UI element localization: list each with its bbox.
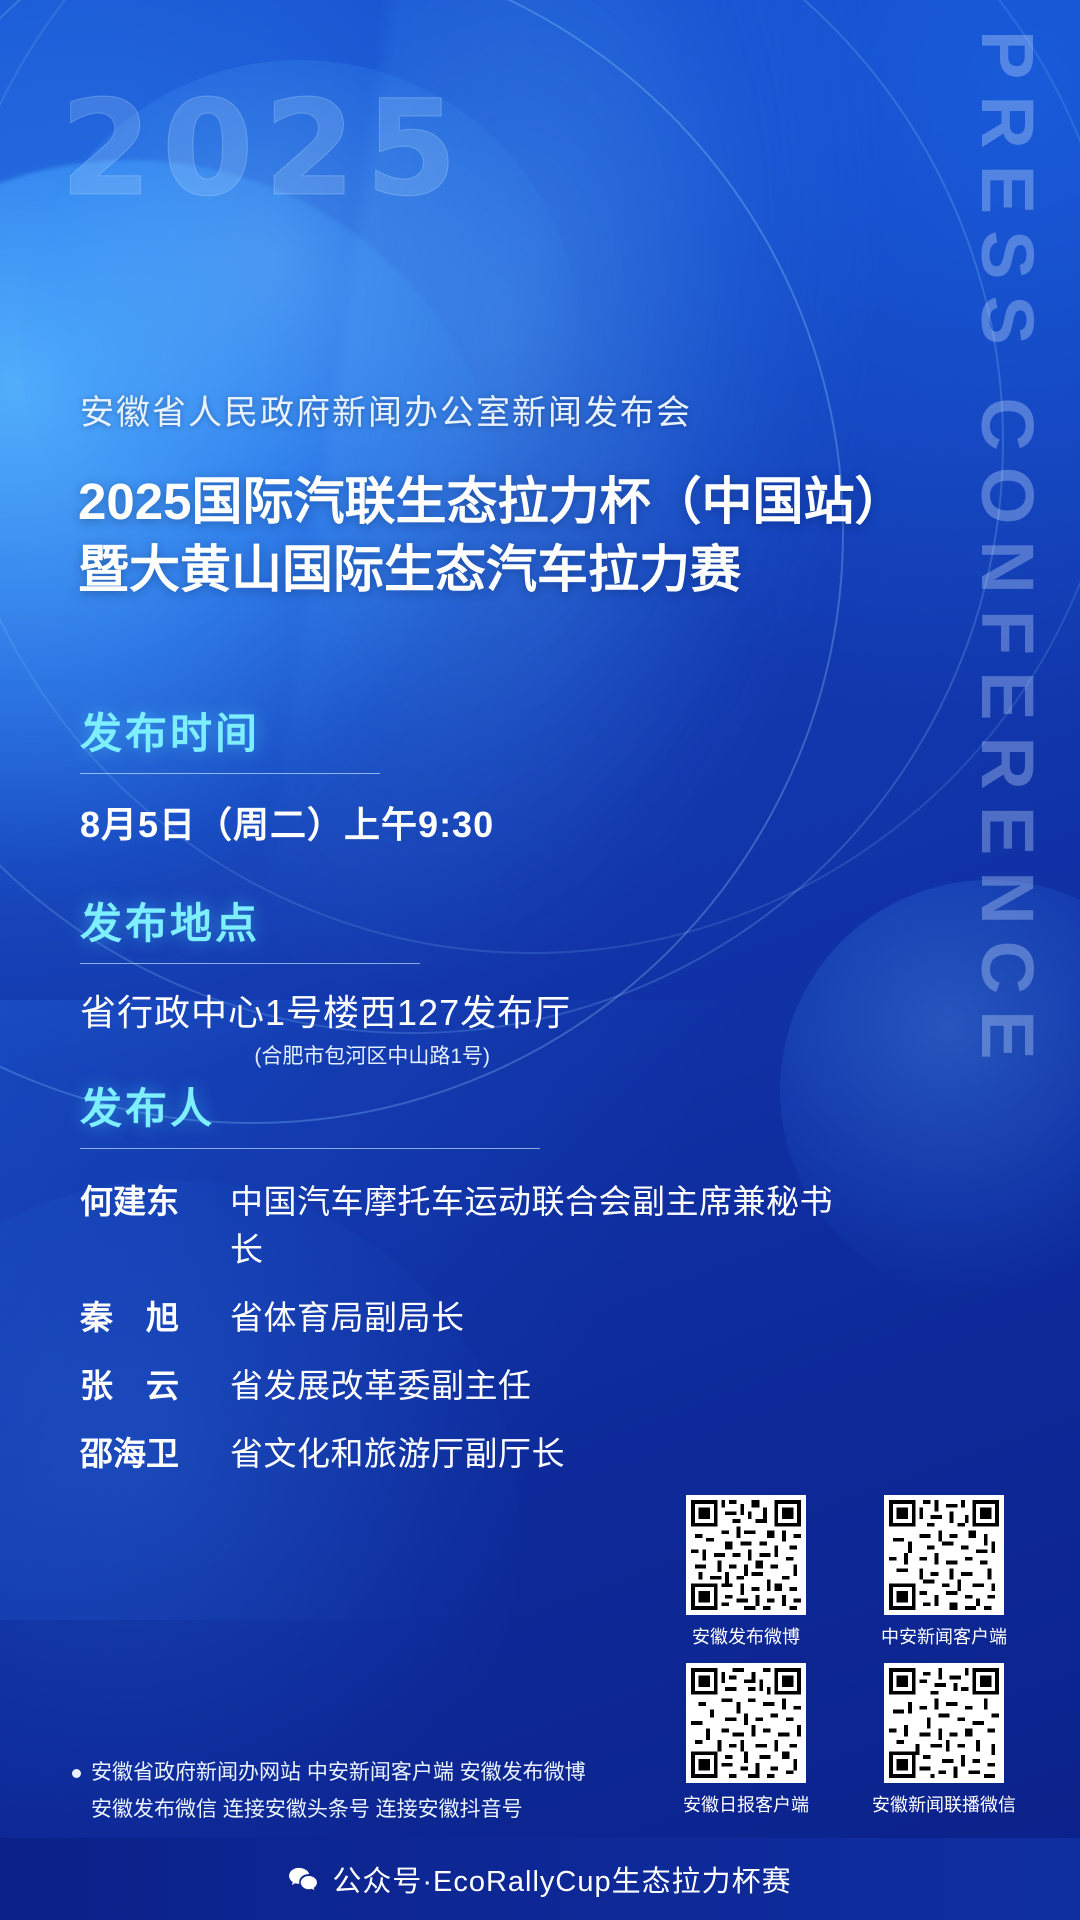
section-time-label: 发布时间 <box>80 700 680 761</box>
section-venue: 发布地点 省行政中心1号楼西127发布厅 (合肥市包河区中山路1号) <box>80 890 680 1070</box>
press-conference-poster: 2025 PRESS CONFERENCE 安徽省人民政府新闻办公室新闻发布会 … <box>0 0 1080 1920</box>
speaker-title: 省发展改革委副主任 <box>230 1359 532 1407</box>
speaker-title: 省文化和旅游厅副厅长 <box>230 1427 565 1475</box>
speaker-name: 何建东 <box>80 1175 230 1223</box>
qr-cell-weibo[interactable]: 安徽发布微博 <box>660 1495 832 1649</box>
qr-code-icon[interactable] <box>686 1663 806 1783</box>
footer-line-1: 安徽省政府新闻办网站 中安新闻客户端 安徽发布微博 <box>72 1755 632 1792</box>
poster-content: 安徽省人民政府新闻办公室新闻发布会 2025国际汽联生态拉力杯（中国站） 暨大黄… <box>0 0 1080 1920</box>
organizer-kicker: 安徽省人民政府新闻办公室新闻发布会 <box>80 385 692 434</box>
section-venue-label: 发布地点 <box>80 890 680 951</box>
footer-channels: 安徽省政府新闻办网站 中安新闻客户端 安徽发布微博 安徽发布微信 连接安徽头条号… <box>72 1755 632 1829</box>
qr-cell-zhongan-app[interactable]: 中安新闻客户端 <box>858 1495 1030 1649</box>
speaker-row: 邵海卫 省文化和旅游厅副厅长 <box>80 1427 840 1475</box>
section-speakers: 发布人 何建东 中国汽车摩托车运动联合会副主席兼秘书长 秦 旭 省体育局副局长 … <box>80 1075 840 1495</box>
qr-cell-ahxwlb-wechat[interactable]: 安徽新闻联播微信 <box>858 1663 1030 1817</box>
title-line-2: 暨大黄山国际生态汽车拉力赛 <box>78 536 1008 604</box>
qr-caption: 安徽发布微博 <box>692 1623 800 1649</box>
qr-caption: 中安新闻客户端 <box>881 1623 1007 1649</box>
speaker-name: 秦 旭 <box>80 1291 230 1339</box>
qr-code-icon[interactable] <box>686 1495 806 1615</box>
speaker-title: 省体育局副局长 <box>230 1291 465 1339</box>
speaker-row: 秦 旭 省体育局副局长 <box>80 1291 840 1339</box>
qr-caption: 安徽新闻联播微信 <box>872 1791 1016 1817</box>
section-time: 发布时间 8月5日（周二）上午9:30 <box>80 700 680 848</box>
qr-code-icon[interactable] <box>884 1663 1004 1783</box>
bullet-icon <box>72 1769 81 1778</box>
footer-line-1-text: 安徽省政府新闻办网站 中安新闻客户端 安徽发布微博 <box>91 1761 586 1784</box>
section-venue-address-note: (合肥市包河区中山路1号) <box>80 1040 490 1070</box>
speaker-name: 邵海卫 <box>80 1427 230 1475</box>
speaker-name: 张 云 <box>80 1359 230 1407</box>
bottom-bar-text: 公众号·EcoRallyCup生态拉力杯赛 <box>332 1858 791 1900</box>
section-venue-value: 省行政中心1号楼西127发布厅 <box>80 984 680 1036</box>
qr-code-icon[interactable] <box>884 1495 1004 1615</box>
footer-line-2: 安徽发布微信 连接安徽头条号 连接安徽抖音号 <box>72 1792 632 1829</box>
section-time-value: 8月5日（周二）上午9:30 <box>80 796 680 848</box>
qr-code-grid: 安徽发布微博 <box>660 1495 1030 1817</box>
qr-cell-ahrb-app[interactable]: 安徽日报客户端 <box>660 1663 832 1817</box>
title-line-1: 2025国际汽联生态拉力杯（中国站） <box>78 468 1008 536</box>
speaker-row: 张 云 省发展改革委副主任 <box>80 1359 840 1407</box>
qr-caption: 安徽日报客户端 <box>683 1791 809 1817</box>
bottom-bar: 公众号·EcoRallyCup生态拉力杯赛 <box>0 1838 1080 1920</box>
page-title: 2025国际汽联生态拉力杯（中国站） 暨大黄山国际生态汽车拉力赛 <box>78 468 1008 605</box>
speaker-row: 何建东 中国汽车摩托车运动联合会副主席兼秘书长 <box>80 1175 840 1271</box>
speaker-title: 中国汽车摩托车运动联合会副主席兼秘书长 <box>230 1175 840 1271</box>
section-venue-rule <box>80 963 420 964</box>
wechat-icon <box>288 1866 318 1892</box>
section-speakers-label: 发布人 <box>80 1075 840 1136</box>
section-time-rule <box>80 773 380 774</box>
speaker-list: 何建东 中国汽车摩托车运动联合会副主席兼秘书长 秦 旭 省体育局副局长 张 云 … <box>80 1175 840 1475</box>
section-speakers-rule <box>80 1148 540 1149</box>
